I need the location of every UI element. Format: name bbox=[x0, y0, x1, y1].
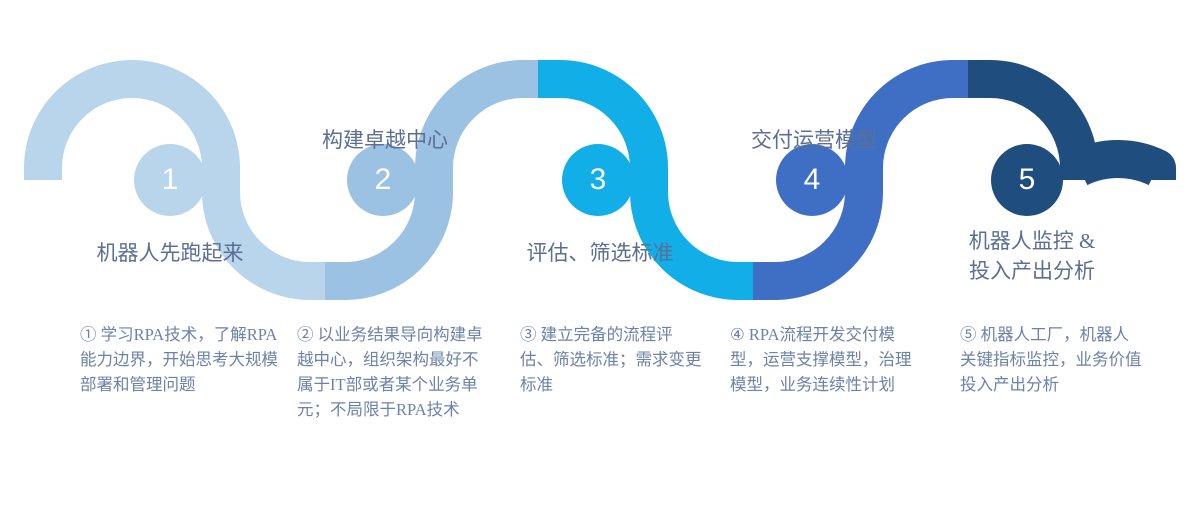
infographic-canvas: 12345 机器人先跑起来构建卓越中心评估、筛选标准交付运营模型机器人监控 & … bbox=[0, 0, 1200, 521]
step-circle-3[interactable]: 3 bbox=[562, 144, 634, 216]
step-number-5: 5 bbox=[1019, 165, 1036, 195]
step-detail-4: ④ RPA流程开发交付模型，运营支撑模型，治理模型，业务连续性计划 bbox=[730, 322, 920, 397]
step-detail-2: ② 以业务结果导向构建卓越中心，组织架构最好不属于IT部或者某个业务单元；不局限… bbox=[297, 322, 485, 422]
step-number-3: 3 bbox=[590, 165, 607, 195]
step-detail-5: ⑤ 机器人工厂，机器人关键指标监控，业务价值投入产出分析 bbox=[960, 322, 1145, 397]
step-detail-3: ③ 建立完备的流程评估、筛选标准；需求变更标准 bbox=[520, 322, 705, 397]
step-title-4: 交付运营模型 bbox=[664, 125, 964, 155]
step-title-5: 机器人监控 & 投入产出分析 bbox=[882, 226, 1182, 286]
step-circle-5[interactable]: 5 bbox=[991, 144, 1063, 216]
step-number-4: 4 bbox=[804, 165, 821, 195]
segment-5-end bbox=[1079, 159, 1157, 180]
step-title-3: 评估、筛选标准 bbox=[450, 238, 750, 268]
step-circle-1[interactable]: 1 bbox=[134, 144, 206, 216]
step-number-2: 2 bbox=[375, 165, 392, 195]
step-title-2: 构建卓越中心 bbox=[235, 125, 535, 155]
step-number-1: 1 bbox=[162, 165, 179, 195]
step-title-1: 机器人先跑起来 bbox=[20, 238, 320, 268]
step-detail-1: ① 学习RPA技术，了解RPA能力边界，开始思考大规模部署和管理问题 bbox=[80, 322, 285, 397]
